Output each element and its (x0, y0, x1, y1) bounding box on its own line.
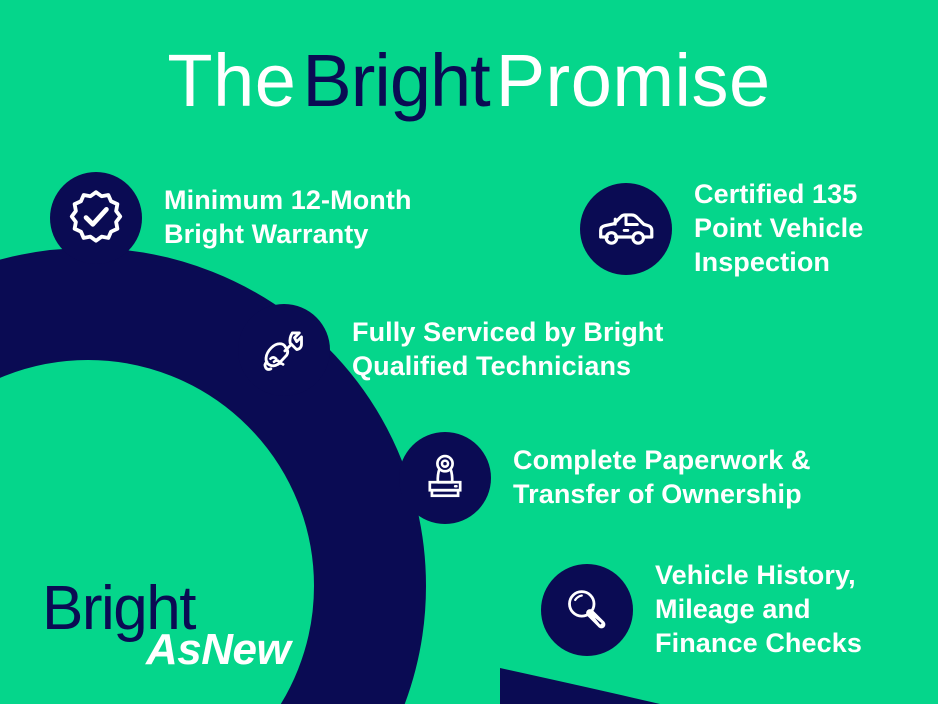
promise-poster: TheBrightPromise Minimum 12-Month Bright… (0, 0, 938, 704)
page-title: TheBrightPromise (0, 44, 938, 118)
feature-item-checks: Vehicle History, Mileage and Finance Che… (541, 559, 862, 660)
wrench-hand-icon (238, 304, 330, 396)
magnifying-glass-icon (541, 564, 633, 656)
feature-label: Vehicle History, Mileage and Finance Che… (655, 559, 862, 660)
car-icon (580, 183, 672, 275)
headline-prefix: The (167, 39, 296, 122)
feature-item-paperwork: Complete Paperwork & Transfer of Ownersh… (399, 432, 811, 524)
headline-brand: Bright (296, 39, 495, 122)
headline-suffix: Promise (496, 39, 771, 122)
logo-secondary-text: AsNew (146, 628, 290, 672)
feature-item-servicing: Fully Serviced by Bright Qualified Techn… (238, 304, 663, 396)
feature-label: Certified 135 Point Vehicle Inspection (694, 178, 863, 279)
feature-label: Fully Serviced by Bright Qualified Techn… (352, 316, 663, 384)
feature-label: Minimum 12-Month Bright Warranty (164, 184, 412, 252)
verified-badge-icon (50, 172, 142, 264)
feature-item-inspection: Certified 135 Point Vehicle Inspection (580, 178, 863, 279)
rubber-stamp-icon (399, 432, 491, 524)
decorative-wedge (500, 668, 660, 704)
feature-label: Complete Paperwork & Transfer of Ownersh… (513, 444, 811, 512)
feature-item-warranty: Minimum 12-Month Bright Warranty (50, 172, 412, 264)
brand-logo[interactable]: Bright AsNew (42, 578, 292, 688)
